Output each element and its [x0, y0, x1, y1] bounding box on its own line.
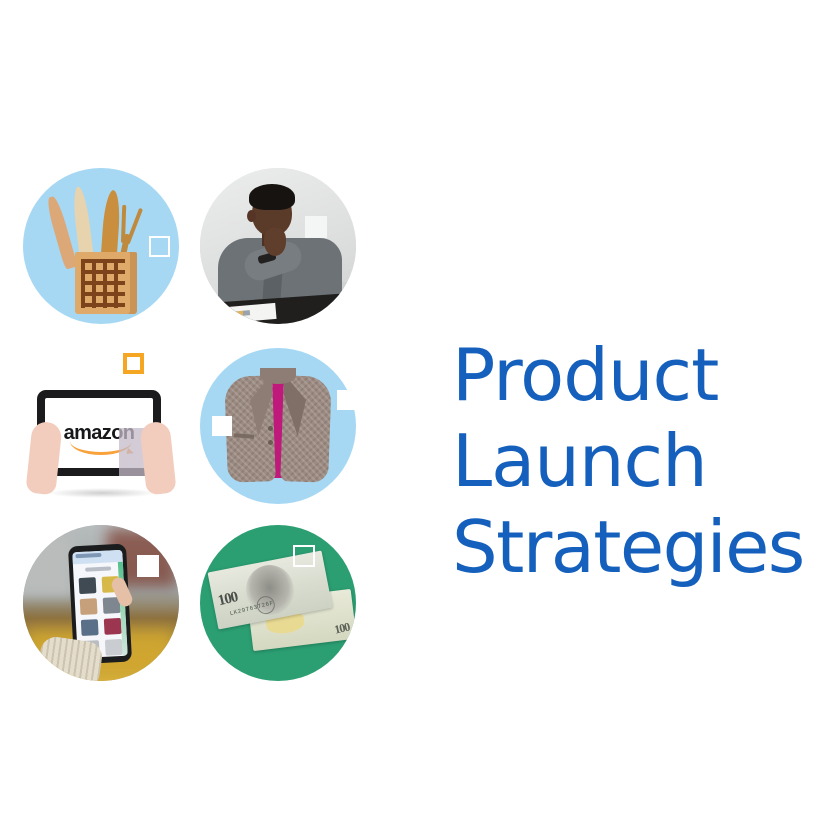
collage-tile-mobile-shopping[interactable] — [23, 525, 179, 681]
bill-denomination-back: 100 — [333, 620, 351, 638]
treasury-seal-icon — [255, 595, 276, 616]
mobile-shopping-illustration — [23, 525, 179, 681]
amazon-tablet-illustration: amazon — [23, 348, 179, 504]
left-hand-icon — [23, 525, 60, 587]
square-accent-outline — [149, 236, 170, 257]
left-hand-icon — [25, 421, 62, 496]
bill-denomination-front: 100 — [216, 589, 239, 610]
utensils-illustration — [53, 176, 149, 316]
man-thinking-illustration — [200, 168, 356, 324]
tile-circle-backdrop — [23, 525, 179, 681]
square-accent-filled — [137, 555, 159, 577]
collage-tile-amazon-tablet[interactable]: amazon — [23, 348, 179, 504]
collage-tile-man-thinking-at-desk[interactable] — [200, 168, 356, 324]
title-line-2: Launch — [452, 418, 840, 504]
utensil-holder-icon — [75, 252, 137, 314]
square-accent-filled-right — [337, 390, 357, 410]
slide-canvas: amazon — [0, 0, 840, 840]
title-line-3: Strategies — [452, 504, 840, 590]
collage-tile-kitchen-utensils[interactable] — [23, 168, 179, 324]
collage-tile-hundred-dollar-bills[interactable]: 100 100 LK29763726F — [200, 525, 356, 681]
dollar-bills-illustration: 100 100 LK29763726F — [212, 561, 344, 641]
right-hand-icon — [139, 421, 176, 496]
square-accent-filled-left — [212, 416, 232, 436]
page-title: Product Launch Strategies — [452, 332, 840, 590]
tile-circle-backdrop: 100 100 LK29763726F — [200, 525, 356, 681]
spatula-icon — [45, 195, 78, 270]
square-accent-outline — [293, 545, 315, 567]
tile-circle-backdrop — [200, 168, 356, 324]
square-accent-filled — [305, 216, 327, 238]
square-accent-orange — [123, 353, 144, 374]
title-line-1: Product — [452, 332, 840, 418]
image-collage: amazon — [0, 150, 380, 710]
tile-circle-backdrop: amazon — [23, 348, 179, 504]
collage-tile-blazer-apparel[interactable] — [200, 348, 356, 504]
blazer-illustration — [224, 368, 332, 486]
